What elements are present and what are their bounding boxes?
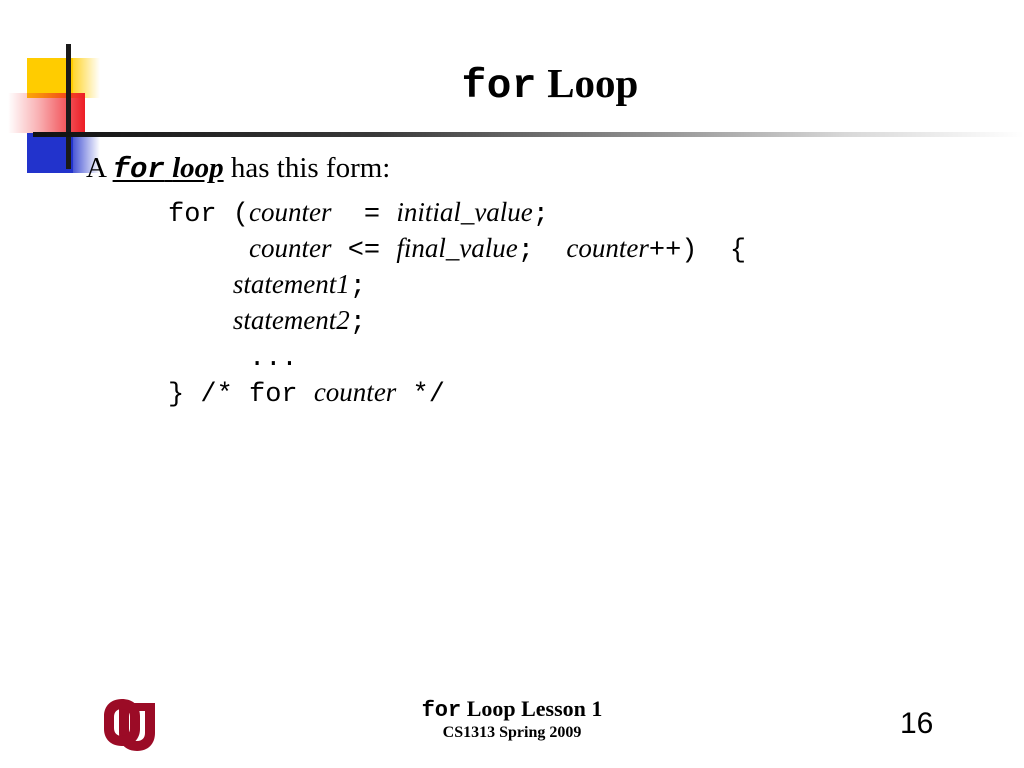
code-identifier: counter <box>249 197 331 227</box>
code-line: statement1; <box>168 268 746 304</box>
code-syntax: <= <box>332 236 397 266</box>
code-syntax: ; <box>518 236 567 266</box>
code-line: counter <= final_value; counter++) { <box>168 232 746 268</box>
deco-blue-block-solid <box>27 133 73 173</box>
code-syntax <box>168 308 233 338</box>
page-number: 16 <box>900 707 933 741</box>
intro-before: A <box>86 152 113 184</box>
page-title: for Loop <box>120 62 980 109</box>
deco-yellow-block <box>27 58 100 98</box>
code-identifier: initial_value <box>396 197 532 227</box>
footer-lesson-title-mono: for <box>422 698 462 723</box>
deco-vertical-rule <box>66 44 71 169</box>
code-syntax: } /* for <box>168 380 314 410</box>
code-line: statement2; <box>168 304 746 340</box>
code-line: } /* for counter */ <box>168 376 746 412</box>
code-identifier: counter <box>314 377 396 407</box>
code-syntax: ; <box>350 272 366 302</box>
code-syntax: = <box>332 200 397 230</box>
footer-lesson-title-serif: Loop Lesson 1 <box>461 696 602 721</box>
code-identifier: statement1 <box>233 269 350 299</box>
intro-after: has this form: <box>224 152 391 184</box>
code-block: for (counter = initial_value; counter <=… <box>168 196 746 412</box>
code-syntax <box>168 272 233 302</box>
intro-keyword-for: for <box>113 153 165 186</box>
ou-logo <box>101 697 167 755</box>
intro-keyword-gap <box>165 152 172 184</box>
code-identifier: counter <box>566 233 648 263</box>
code-syntax <box>168 236 249 266</box>
code-syntax: */ <box>396 380 445 410</box>
code-syntax: ++) { <box>649 236 746 266</box>
code-syntax: ; <box>350 308 366 338</box>
code-syntax: ... <box>168 344 298 374</box>
page-title-mono: for <box>462 64 537 110</box>
intro-keyword-loop: loop <box>172 152 224 184</box>
title-horizontal-rule <box>33 132 1024 137</box>
code-syntax: for ( <box>168 200 249 230</box>
ou-logo-glyphs <box>104 699 155 751</box>
code-identifier: statement2 <box>233 305 350 335</box>
code-line: ... <box>168 340 746 376</box>
code-syntax: ; <box>533 200 549 230</box>
page-title-serif: Loop <box>537 60 638 106</box>
deco-yellow-block-solid <box>27 58 73 98</box>
code-identifier: counter <box>249 233 331 263</box>
intro-text: A for loop has this form: <box>86 152 390 186</box>
code-line: for (counter = initial_value; <box>168 196 746 232</box>
code-identifier: final_value <box>396 233 517 263</box>
deco-red-block <box>8 93 85 133</box>
